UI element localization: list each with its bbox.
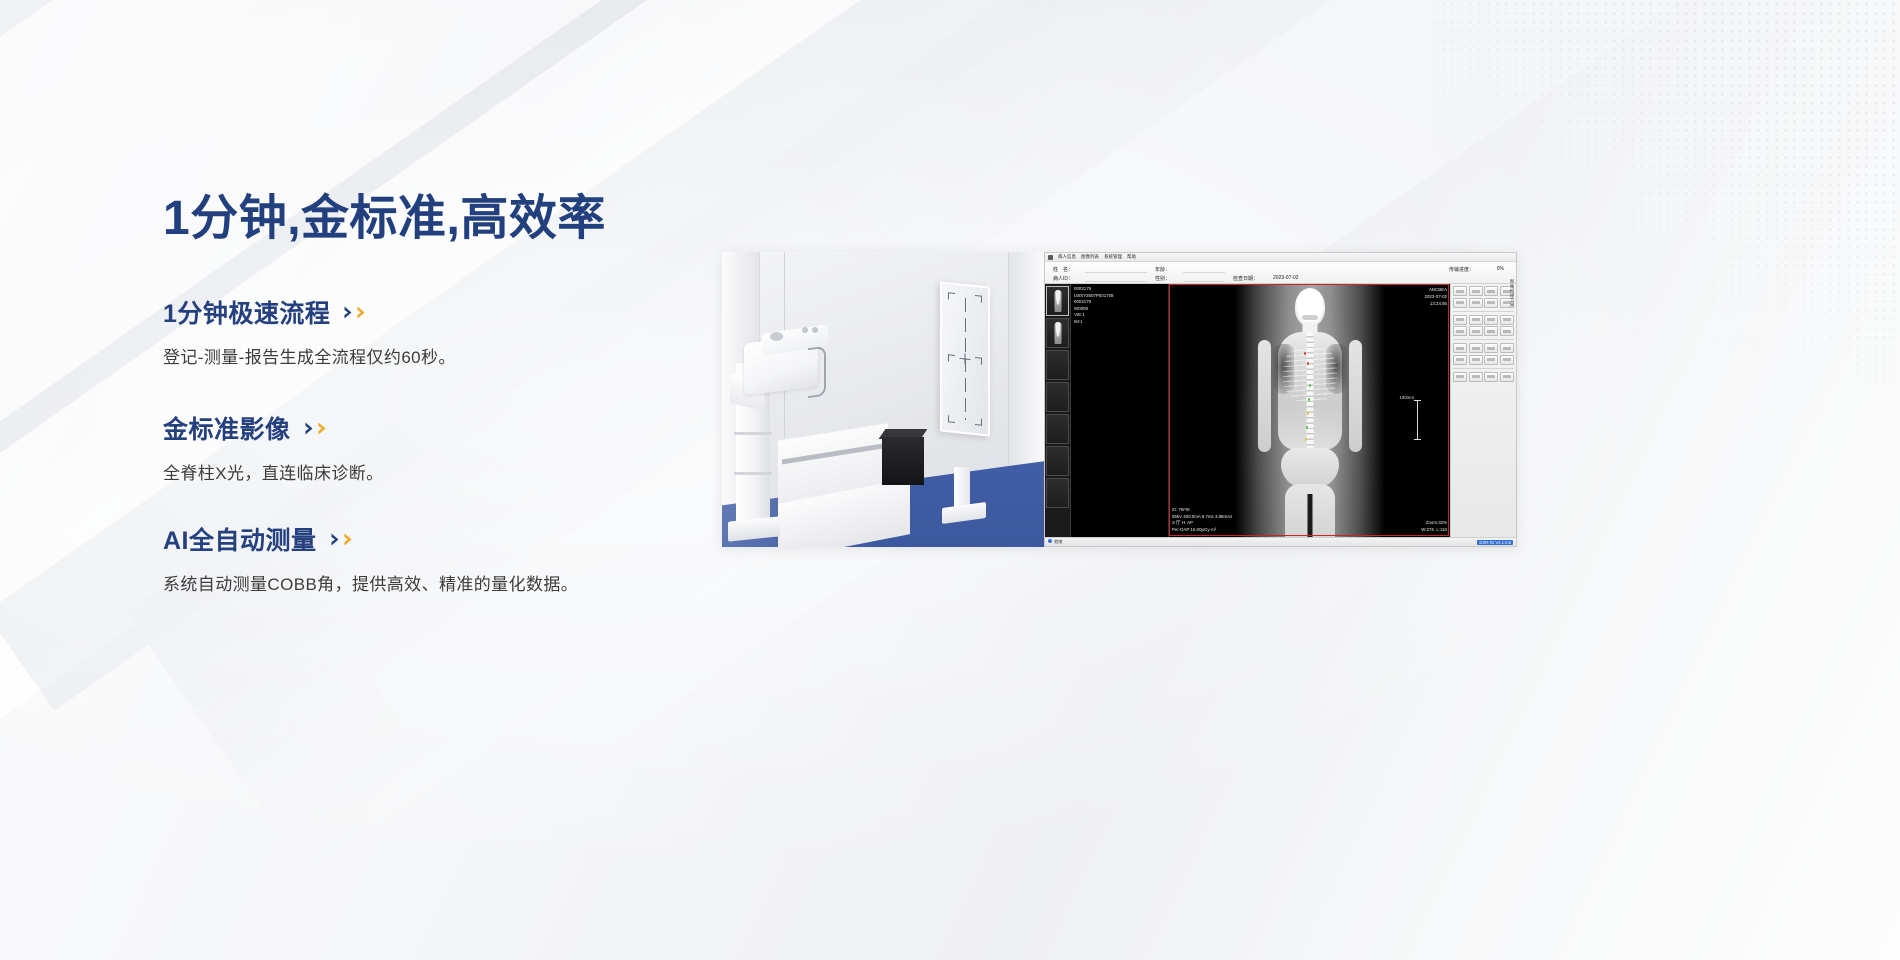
label-patient-name: 姓 名：	[1053, 266, 1073, 273]
xray-image-canvas[interactable]: ANCBEA 2023-07-02 13:24:56 ZI: 75FI8 95k…	[1169, 284, 1450, 537]
value-transfer-progress: 0%	[1497, 266, 1504, 272]
xray-patient-anatomy	[1264, 288, 1356, 537]
tool-measure-angle-icon[interactable]	[1469, 315, 1483, 325]
thumbnail-item[interactable]	[1046, 318, 1069, 348]
menu-item-help[interactable]: 帮助	[1127, 254, 1136, 260]
thumbnail-item[interactable]	[1046, 446, 1069, 476]
tool-zoom-icon[interactable]	[1469, 286, 1483, 296]
tool-stitch-icon[interactable]	[1453, 355, 1467, 365]
detector-corner-mark-tl	[948, 292, 955, 300]
cobb-marker-yellow[interactable]	[1307, 412, 1310, 415]
detector-corner-mark-ml	[948, 354, 955, 362]
tool-delete-icon[interactable]	[1484, 326, 1498, 336]
value-exam-date: 2023-07-02	[1273, 275, 1299, 281]
cobb-marker-red[interactable]	[1307, 362, 1310, 365]
tool-annotate-icon[interactable]	[1500, 315, 1514, 325]
status-right: DXR-01 V4.1.0.6	[1477, 540, 1513, 545]
feature-1-description: 登记-测量-报告生成全流程仅约60秒。	[163, 343, 456, 368]
tool-divider	[1453, 368, 1514, 369]
tube-knob-2	[812, 327, 818, 333]
status-left: 就绪	[1048, 539, 1062, 545]
feature-3-title: AI全自动测量	[163, 521, 317, 557]
feature-item-1: 1分钟极速流程 登记-测量-报告生成全流程仅约60秒。	[163, 294, 456, 368]
tool-export-icon[interactable]	[1469, 355, 1483, 365]
detector-corner-mark-tr	[975, 295, 982, 303]
tool-compare-icon[interactable]	[1484, 372, 1498, 382]
study-list-panel[interactable]: 0002179 LWSY2507P001708 0002179 W0009 VI…	[1071, 284, 1169, 537]
anatomy-head	[1295, 288, 1325, 326]
detector-crosshair-v	[965, 353, 966, 364]
overlay-exposure-parameters: ZI: 75FI8 95kV 400.0mA 9.7ms 3.88mAs S 厅…	[1172, 507, 1232, 534]
thumbnail-item[interactable]	[1046, 286, 1069, 316]
tool-flip-v-icon[interactable]	[1469, 298, 1483, 308]
detector-corner-mark-mr	[975, 357, 982, 365]
thumbnail-body-icon	[1054, 322, 1061, 344]
anatomy-pelvis	[1281, 448, 1339, 488]
label-patient-age: 年龄：	[1155, 266, 1170, 273]
menu-item-image-list[interactable]: 图像列表	[1081, 254, 1099, 260]
tool-arrow-icon[interactable]	[1453, 326, 1467, 336]
study-list-item[interactable]: W0009	[1074, 306, 1165, 313]
study-list-item[interactable]: 0002179	[1074, 299, 1165, 306]
label-patient-id: 病人ID：	[1053, 275, 1073, 282]
floor-equipment-box	[882, 437, 924, 485]
label-patient-gender: 性别：	[1155, 275, 1170, 282]
tool-divider	[1453, 311, 1514, 312]
scale-ruler-label: 100mm	[1399, 395, 1414, 400]
thumbnail-strip[interactable]	[1045, 284, 1071, 537]
study-list-item[interactable]: VIE:1	[1074, 312, 1165, 319]
chevron-right-blue-icon	[304, 421, 315, 436]
menu-item-system-management[interactable]: 系统管理	[1104, 254, 1122, 260]
study-list-item[interactable]: 0002179	[1074, 286, 1165, 293]
viewer-menubar: 病人信息 图像列表 系统管理 帮助	[1045, 253, 1516, 262]
tool-sharpen-icon[interactable]	[1484, 343, 1498, 353]
tool-brightness-icon[interactable]	[1469, 343, 1483, 353]
cobb-marker-green[interactable]	[1306, 426, 1309, 429]
feature-1-title: 1分钟极速流程	[163, 294, 330, 330]
anatomy-jaw	[1302, 315, 1318, 320]
study-list-item[interactable]: LWSY2507P001708	[1074, 293, 1165, 300]
feature-2-title: 金标准影像	[163, 410, 291, 446]
tool-grid-row-1	[1453, 286, 1514, 308]
tool-contrast-icon[interactable]	[1453, 343, 1467, 353]
imaging-software-window: 病人信息 图像列表 系统管理 帮助 姓 名： 年龄： 病人ID： 性别： 检查日…	[1044, 252, 1517, 547]
scale-ruler	[1417, 400, 1418, 440]
tool-invert-icon[interactable]	[1484, 298, 1498, 308]
tool-grid-row-4	[1453, 372, 1514, 382]
chevron-right-orange-icon	[356, 305, 367, 320]
cobb-marker-yellow[interactable]	[1305, 438, 1308, 441]
tool-window-level-icon[interactable]	[1453, 286, 1467, 296]
tool-denoise-icon[interactable]	[1500, 343, 1514, 353]
feature-1-heading: 1分钟极速流程	[163, 294, 456, 330]
column-segment-joint-2	[734, 432, 772, 435]
status-version-chip: DXR-01 V4.1.0.6	[1477, 540, 1513, 545]
study-list-item[interactable]: IM:1	[1074, 319, 1165, 326]
feature-2-heading: 金标准影像	[163, 410, 384, 446]
detector-corner-mark-br	[975, 418, 982, 426]
anatomy-spine	[1306, 332, 1313, 452]
viewer-main-row: 0002179 LWSY2507P001708 0002179 W0009 VI…	[1045, 284, 1516, 537]
xray-tube-handle	[808, 346, 826, 398]
label-exam-date: 检查日期：	[1233, 275, 1258, 282]
tool-layout-1x1-icon[interactable]	[1453, 372, 1467, 382]
tool-grid-row-2	[1453, 315, 1514, 337]
patient-info-bar: 姓 名： 年龄： 病人ID： 性别： 检查日期： 2023-07-02 传输进度…	[1045, 262, 1516, 284]
column-segment-joint-1	[734, 472, 772, 475]
xray-room-render	[722, 252, 1044, 547]
chevron-right-orange-icon	[343, 532, 354, 547]
anatomy-arm-right	[1349, 340, 1362, 452]
field-underline-age	[1183, 272, 1225, 273]
tool-panel-side-label: 图像处理工具	[1509, 279, 1515, 307]
cobb-marker-green[interactable]	[1309, 384, 1312, 387]
field-underline-id	[1085, 281, 1147, 282]
overlay-zoom-window-level: Zoom:32% W:276 L:110	[1421, 520, 1447, 534]
overlay-study-datetime: ANCBEA 2023-07-02 13:24:56	[1425, 287, 1447, 307]
tool-roi-icon[interactable]	[1469, 326, 1483, 336]
image-tool-panel[interactable]: 图像处理工具	[1450, 284, 1516, 537]
tool-print-icon[interactable]	[1484, 355, 1498, 365]
label-transfer-progress: 传输进度：	[1449, 266, 1474, 273]
page-title: 1分钟,金标准,高效率	[163, 178, 606, 248]
thumbnail-item[interactable]	[1046, 350, 1069, 380]
tool-measure-length-icon[interactable]	[1453, 315, 1467, 325]
menu-item-patient-info[interactable]: 病人信息	[1058, 254, 1076, 260]
tool-layout-2x2-icon[interactable]	[1469, 372, 1483, 382]
chevron-right-orange-icon	[317, 421, 328, 436]
status-indicator-icon	[1048, 539, 1052, 543]
field-underline-name	[1085, 272, 1147, 273]
feature-3-description: 系统自动测量COBB角，提供高效、精准的量化数据。	[163, 570, 578, 595]
cobb-marker-red[interactable]	[1304, 352, 1307, 355]
tool-save-icon[interactable]	[1500, 355, 1514, 365]
thumbnail-body-icon	[1054, 290, 1061, 312]
anatomy-leg-gap	[1307, 494, 1312, 537]
chevron-right-blue-icon	[330, 532, 341, 547]
upright-detector-panel	[940, 281, 990, 436]
tool-cobb-angle-icon[interactable]	[1484, 315, 1498, 325]
field-underline-gender	[1183, 281, 1225, 282]
product-media-composite: 病人信息 图像列表 系统管理 帮助 姓 名： 年龄： 病人ID： 性别： 检查日…	[722, 252, 1517, 547]
thumbnail-item[interactable]	[1046, 414, 1069, 444]
page-content: 1分钟,金标准,高效率 1分钟极速流程 登记-测量-报告生成全流程仅约60秒。 …	[0, 0, 1900, 960]
thumbnail-item[interactable]	[1046, 478, 1069, 508]
feature-3-heading: AI全自动测量	[163, 521, 578, 557]
app-logo-icon	[1048, 255, 1053, 260]
xray-collimator-lens	[770, 332, 783, 341]
tool-flip-h-icon[interactable]	[1453, 298, 1467, 308]
double-chevron-icon	[304, 421, 328, 436]
detector-corner-mark-bl	[948, 415, 955, 423]
double-chevron-icon	[330, 532, 354, 547]
viewer-statusbar: 就绪 DXR-01 V4.1.0.6	[1045, 537, 1516, 546]
tube-knob-1	[802, 327, 808, 333]
thumbnail-item[interactable]	[1046, 382, 1069, 412]
chevron-right-blue-icon	[343, 305, 354, 320]
detector-stand-post	[954, 467, 970, 509]
tool-crop-icon[interactable]	[1500, 326, 1514, 336]
anatomy-arm-left	[1258, 340, 1271, 452]
feature-2-description: 全脊柱X光，直连临床诊断。	[163, 459, 384, 484]
tool-pan-icon[interactable]	[1484, 286, 1498, 296]
feature-item-2: 金标准影像 全脊柱X光，直连临床诊断。	[163, 410, 384, 484]
double-chevron-icon	[343, 305, 367, 320]
feature-item-3: AI全自动测量 系统自动测量COBB角，提供高效、精准的量化数据。	[163, 521, 578, 595]
tool-grid-row-3	[1453, 343, 1514, 365]
tool-fullscreen-icon[interactable]	[1500, 372, 1514, 382]
tool-divider	[1453, 339, 1514, 340]
cobb-marker-green[interactable]	[1308, 398, 1311, 401]
